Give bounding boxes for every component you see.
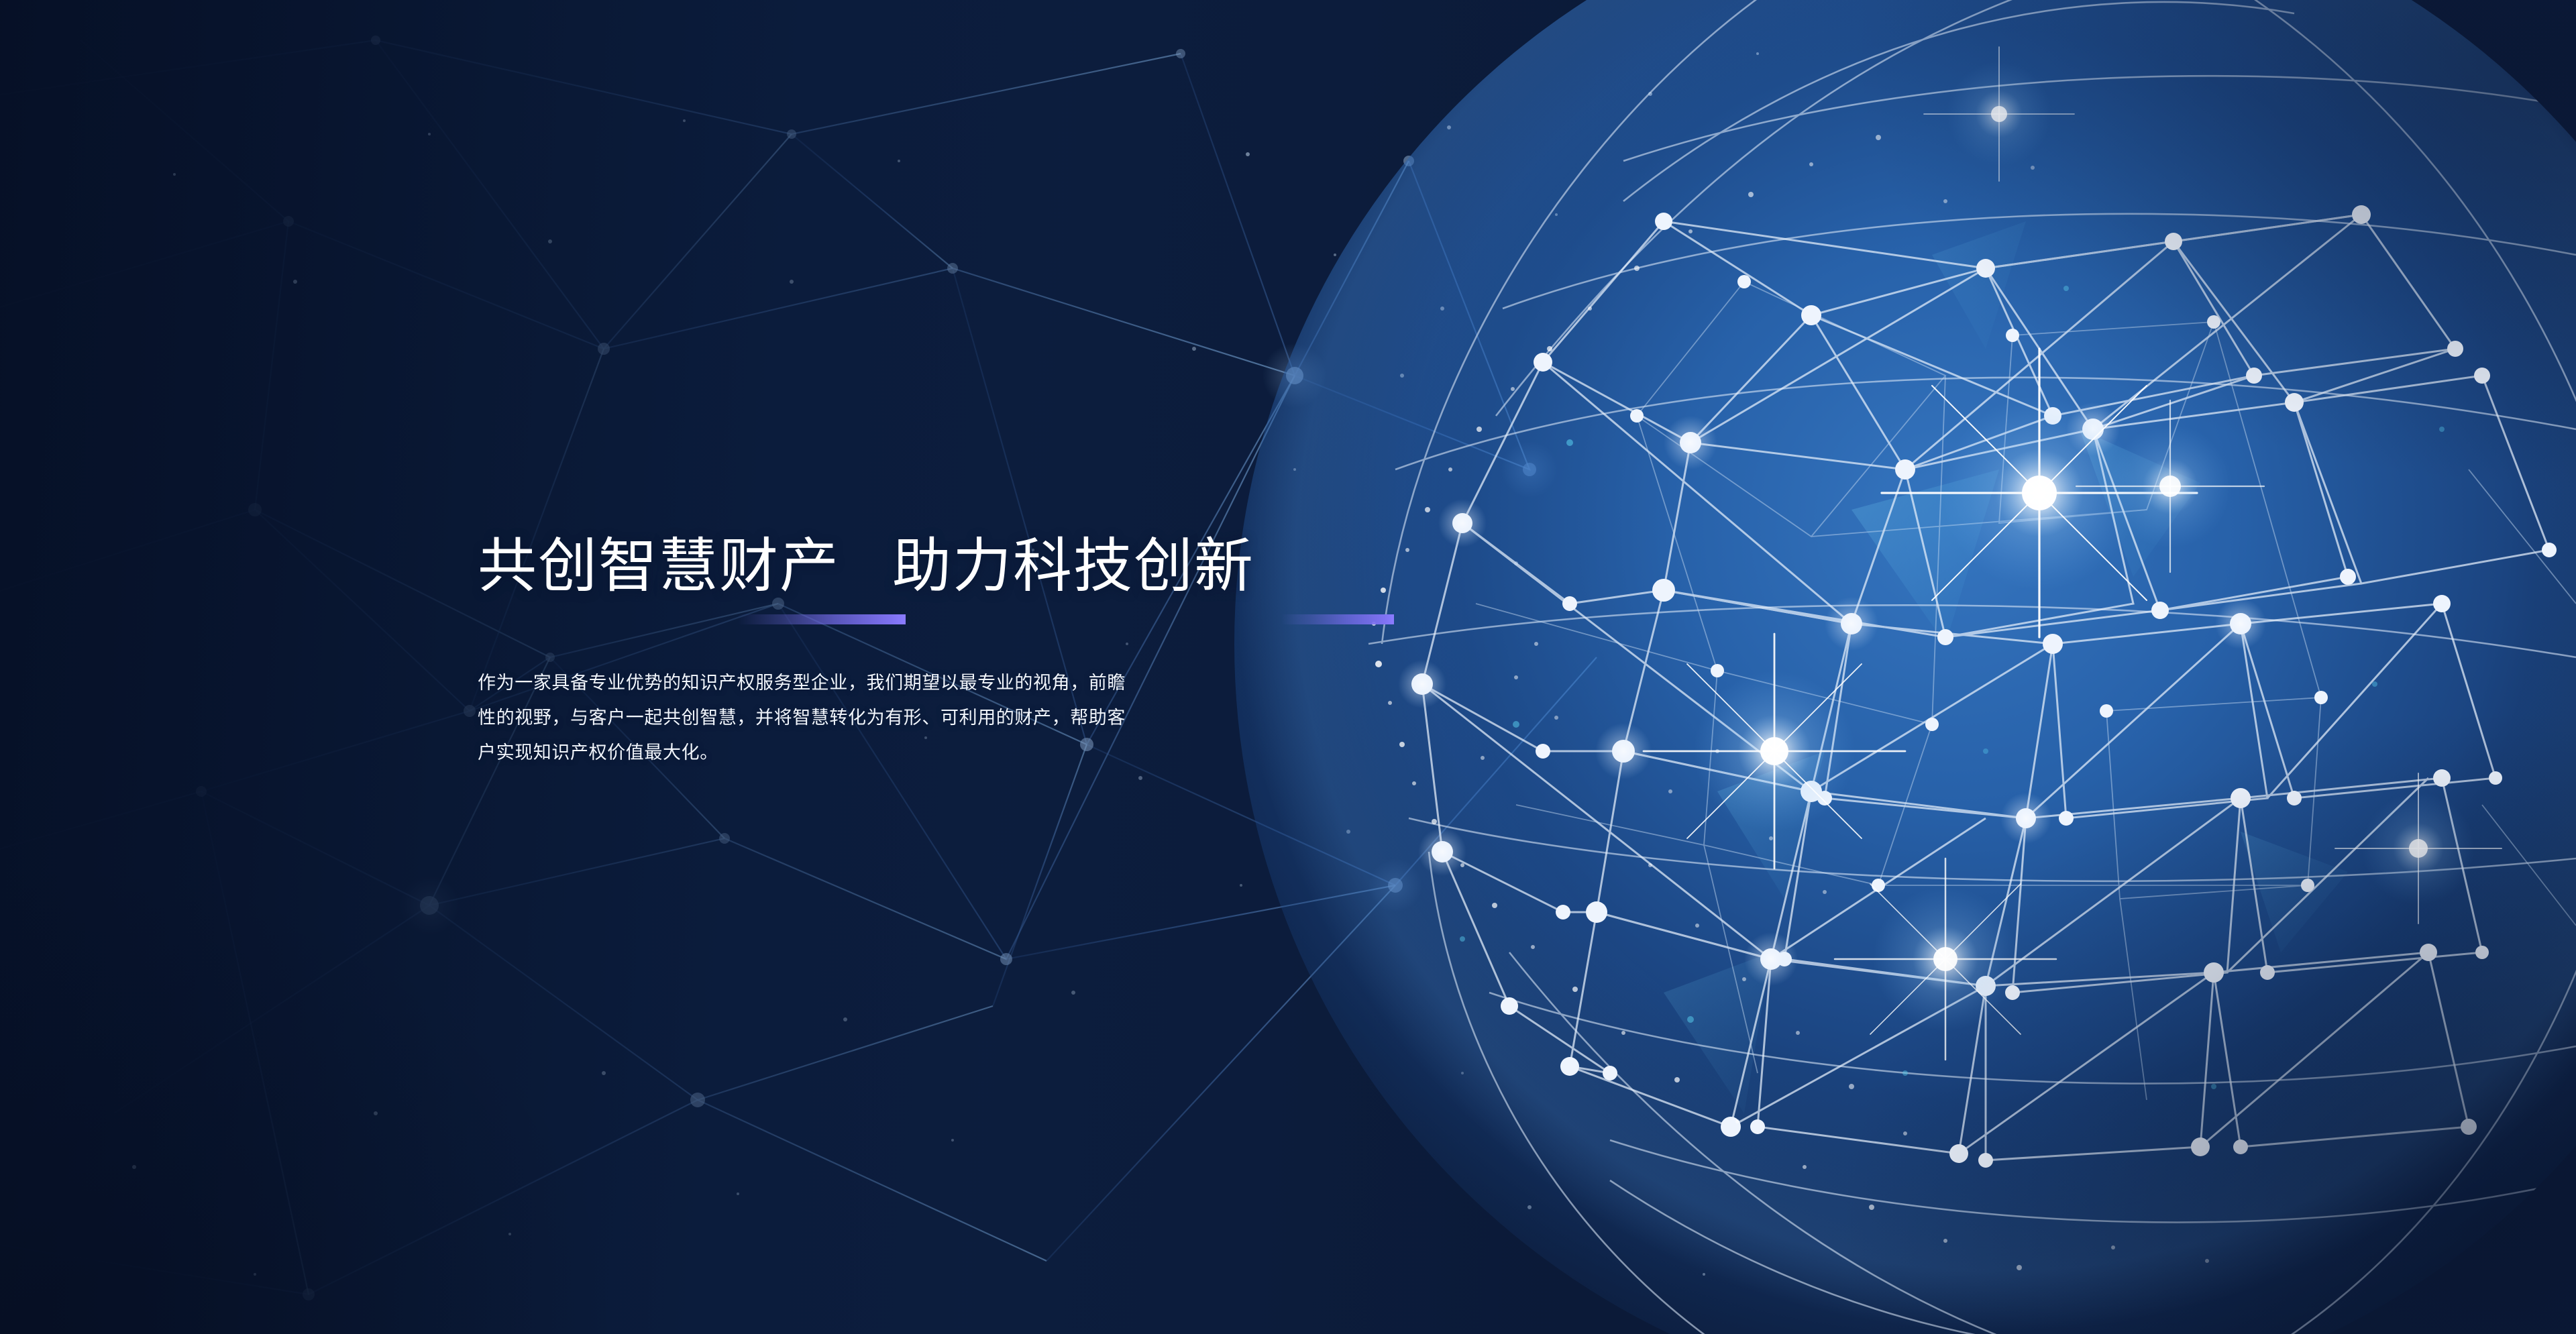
description-line-2: 性的视野，与客户一起共创智慧，并将智慧转化为有形、可利用的财产，帮助客: [478, 700, 1246, 735]
hero-banner: 共创智慧财产助力科技创新 作为一家具备专业优势的知识产权服务型企业，我们期望以最…: [0, 0, 2576, 1334]
underline-accent-bar-2: [1281, 614, 1394, 624]
description-line-1: 作为一家具备专业优势的知识产权服务型企业，我们期望以最专业的视角，前瞻: [478, 665, 1246, 700]
hero-content: 共创智慧财产助力科技创新 作为一家具备专业优势的知识产权服务型企业，我们期望以最…: [478, 537, 1484, 770]
hero-description: 作为一家具备专业优势的知识产权服务型企业，我们期望以最专业的视角，前瞻 性的视野…: [478, 665, 1246, 770]
description-line-3: 户实现知识产权价值最大化。: [478, 735, 1246, 770]
headline-segment-2: 助力科技创新: [892, 533, 1254, 599]
page-title: 共创智慧财产助力科技创新: [478, 537, 1484, 604]
headline-segment-1: 共创智慧财产: [478, 533, 840, 599]
underline-accent-bar-1: [738, 614, 906, 624]
headline-underline-row: [478, 614, 1484, 634]
